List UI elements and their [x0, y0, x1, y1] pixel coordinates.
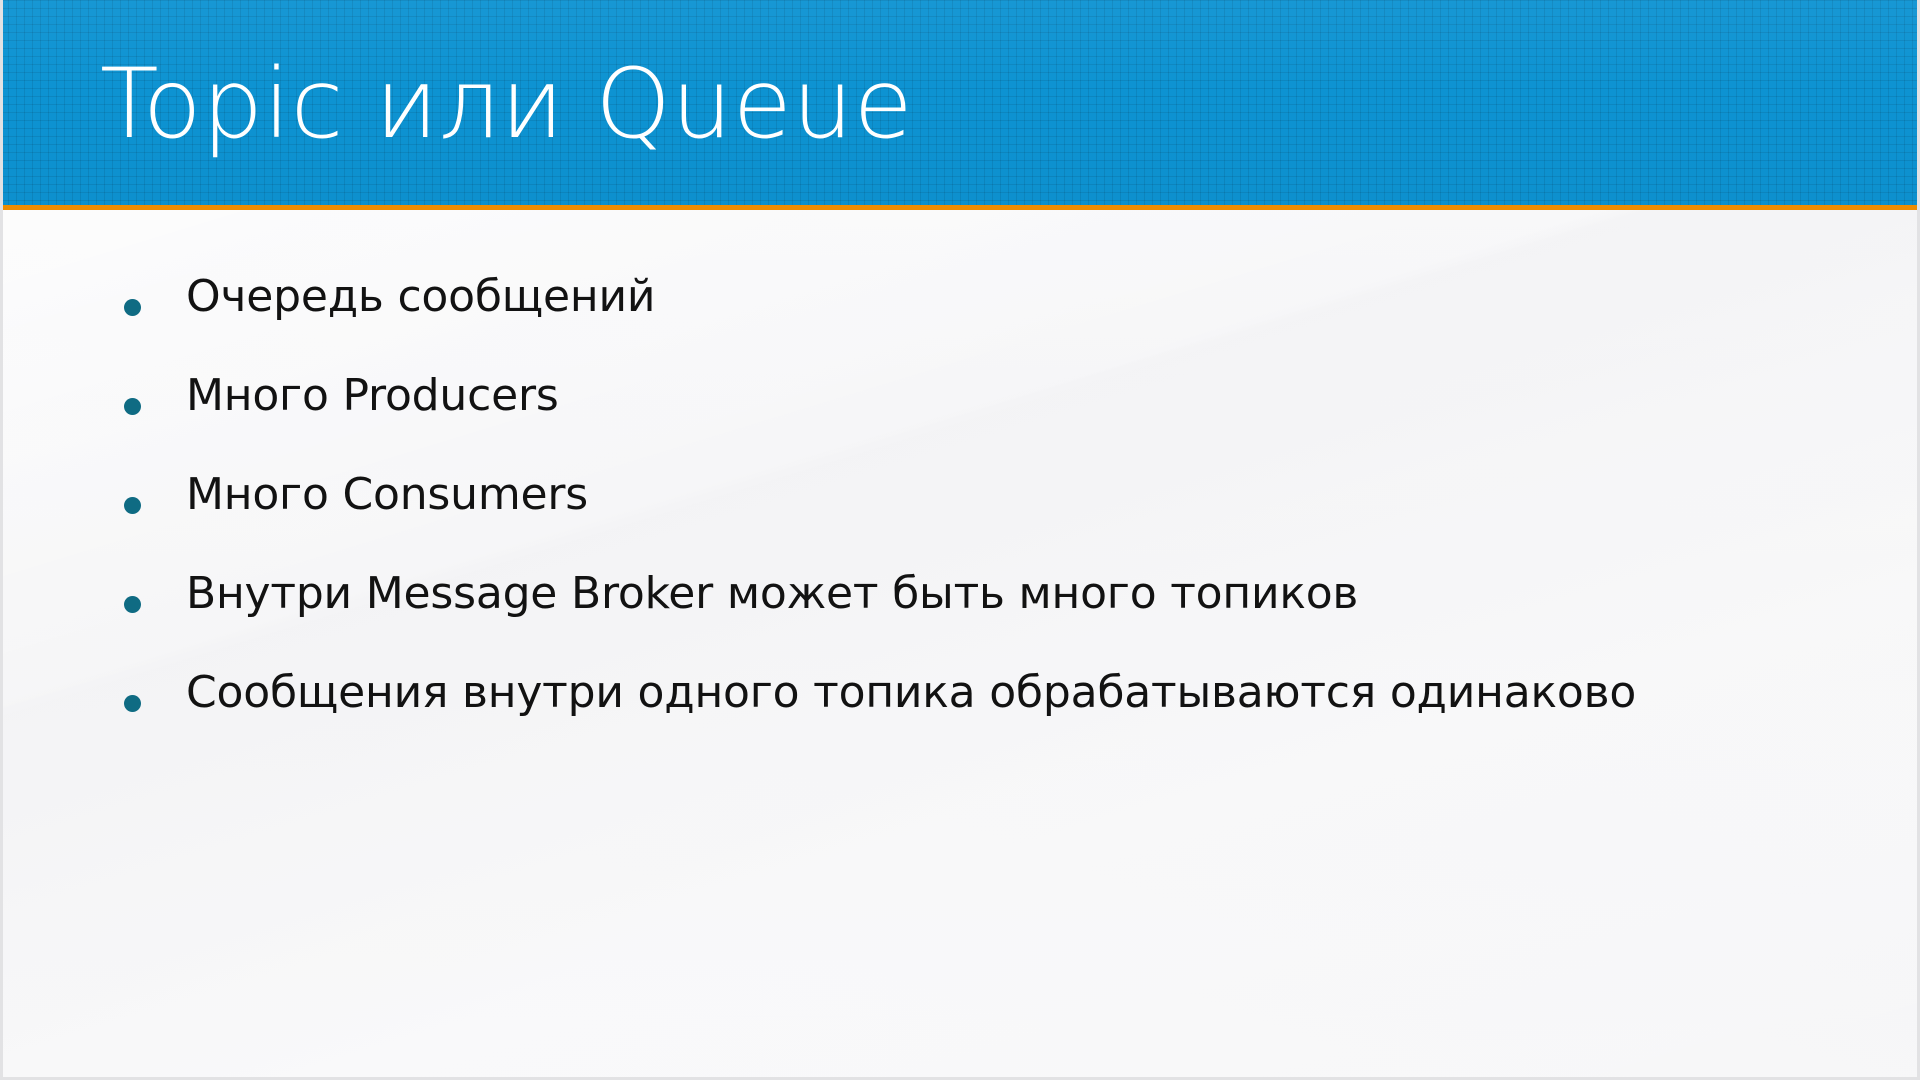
bullet-dot-icon	[124, 299, 141, 316]
list-item: Очередь сообщений	[110, 270, 1870, 369]
bullet-dot-icon	[124, 497, 141, 514]
slide-title-banner: Topic или Queue	[0, 0, 1920, 205]
bullet-list: Очередь сообщений Много Producers Много …	[110, 270, 1870, 765]
list-item: Внутри Message Broker может быть много т…	[110, 567, 1870, 666]
presentation-slide: Topic или Queue Очередь сообщений Много …	[0, 0, 1920, 1080]
list-item: Много Producers	[110, 369, 1870, 468]
slide-title: Topic или Queue	[100, 52, 913, 158]
slide-content-body: Очередь сообщений Много Producers Много …	[0, 210, 1920, 1080]
list-item-label: Очередь сообщений	[186, 270, 655, 324]
bullet-dot-icon	[124, 695, 141, 712]
bullet-dot-icon	[124, 596, 141, 613]
list-item-label: Сообщения внутри одного топика обрабатыв…	[186, 666, 1636, 720]
bullet-dot-icon	[124, 398, 141, 415]
list-item-label: Много Consumers	[186, 468, 588, 522]
list-item: Много Consumers	[110, 468, 1870, 567]
list-item: Сообщения внутри одного топика обрабатыв…	[110, 666, 1870, 765]
list-item-label: Внутри Message Broker может быть много т…	[186, 567, 1358, 621]
list-item-label: Много Producers	[186, 369, 559, 423]
